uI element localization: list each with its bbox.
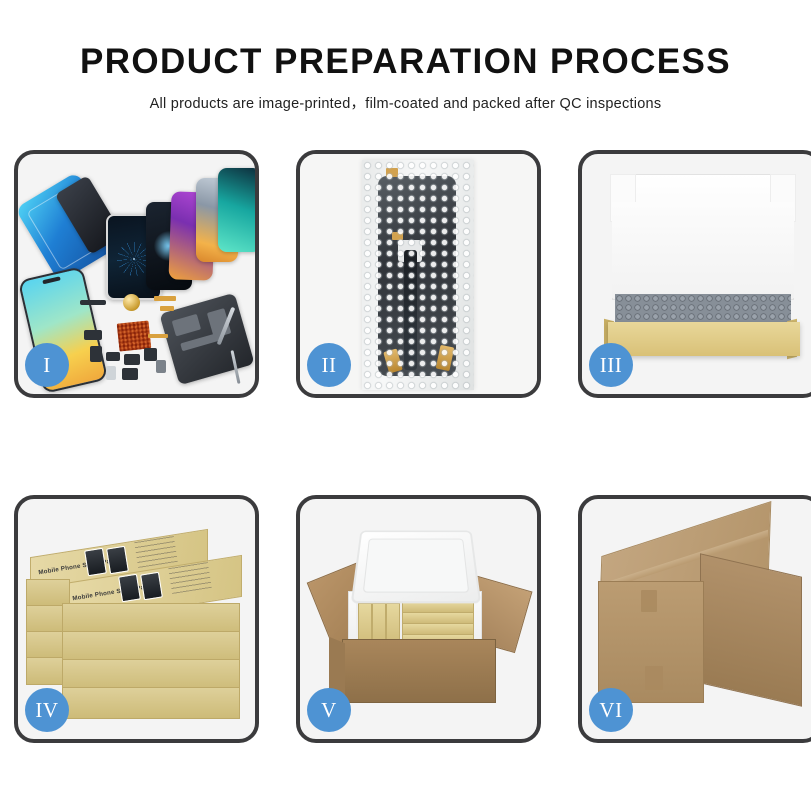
flex-cable-icon	[154, 296, 176, 301]
copper-mesh-shield-icon	[117, 320, 152, 351]
steps-grid: I II	[14, 150, 798, 743]
header: PRODUCT PREPARATION PROCESS All products…	[0, 0, 811, 113]
product-preparation-infographic: PRODUCT PREPARATION PROCESS All products…	[0, 0, 811, 811]
step-badge-6: VI	[589, 688, 633, 732]
spare-part-icon	[156, 360, 166, 373]
step-panel-2: II	[296, 150, 541, 398]
step-badge-5: V	[307, 688, 351, 732]
foam-box-lid-icon	[351, 531, 482, 604]
retail-box-stack-icon: Mobile Phone Spare Parts Mobile Phone Sp…	[24, 517, 252, 717]
teal-gradient-phone-icon	[218, 168, 255, 252]
page-subtitle: All products are image-printed，film-coat…	[0, 92, 811, 113]
spare-part-icon	[90, 346, 102, 362]
bubble-wrap-bag-icon	[362, 160, 474, 390]
spare-part-icon	[84, 330, 102, 340]
step-panel-5: V	[296, 495, 541, 743]
spare-part-icon	[122, 368, 138, 380]
box-product-thumbnail	[84, 548, 107, 577]
step-panel-1: I	[14, 150, 259, 398]
spare-part-icon	[106, 366, 116, 380]
carton-side-face-icon	[700, 553, 802, 707]
step-badge-3: III	[589, 343, 633, 387]
box-product-thumbnail	[140, 572, 163, 601]
vibration-motor-icon	[123, 294, 140, 311]
phone-notch-icon	[42, 276, 60, 284]
box-liner-icon	[612, 202, 794, 298]
box-product-thumbnail	[106, 546, 129, 575]
carton-tape-icon	[641, 590, 657, 612]
carton-tape-icon	[645, 666, 663, 690]
spare-part-icon	[80, 300, 106, 305]
step-badge-1: I	[25, 343, 69, 387]
step-panel-6: VI	[578, 495, 811, 743]
page-title: PRODUCT PREPARATION PROCESS	[0, 44, 811, 81]
stacked-box-edge	[62, 687, 240, 719]
spare-part-icon	[124, 354, 140, 365]
carton-body-icon	[342, 639, 496, 703]
flex-cable-icon	[160, 306, 174, 311]
step-panel-3: III	[578, 150, 811, 398]
step-badge-4: IV	[25, 688, 69, 732]
carton-front-face-icon	[598, 581, 704, 703]
step-badge-2: II	[307, 343, 351, 387]
step-panel-4: Mobile Phone Spare Parts Mobile Phone Sp…	[14, 495, 259, 743]
bubble-texture-icon	[362, 160, 474, 390]
box-product-thumbnail	[118, 574, 141, 603]
flex-cable-icon	[148, 334, 168, 338]
spare-part-icon	[106, 352, 120, 361]
spare-part-icon	[144, 348, 157, 361]
kraft-tray-icon	[608, 322, 800, 356]
housing-component-icon	[172, 314, 201, 337]
